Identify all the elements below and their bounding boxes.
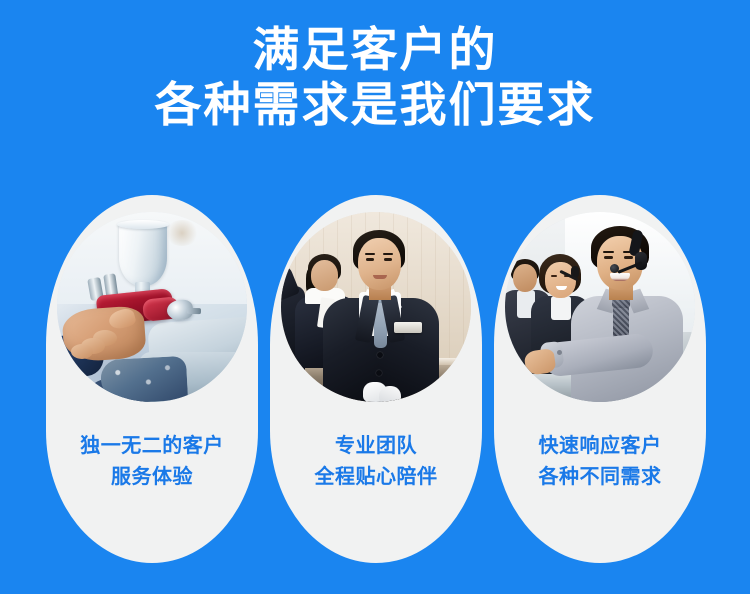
spray-paint-gun-photo [57,212,247,402]
feature-card-caption: 快速响应客户 各种不同需求 [494,431,706,493]
service-team-photo [281,212,471,402]
feature-card-fast-response[interactable]: 快速响应客户 各种不同需求 [494,195,706,563]
caption-line-1: 独一无二的客户 [46,431,258,462]
feature-card-list: 独一无二的客户 服务体验 [46,195,706,563]
caption-line-1: 快速响应客户 [494,431,706,462]
call-center-photo [505,212,695,402]
caption-line-1: 专业团队 [270,431,482,462]
feature-card-professional-team[interactable]: 专业团队 全程贴心陪伴 [270,195,482,563]
feature-card-caption: 专业团队 全程贴心陪伴 [270,431,482,493]
caption-line-2: 服务体验 [46,462,258,493]
feature-card-caption: 独一无二的客户 服务体验 [46,431,258,493]
caption-line-2: 各种不同需求 [494,462,706,493]
feature-card-unique-service[interactable]: 独一无二的客户 服务体验 [46,195,258,563]
promo-banner: 满足客户的 各种需求是我们要求 [0,0,750,594]
headline-line-1: 满足客户的 [0,22,750,77]
caption-line-2: 全程贴心陪伴 [270,462,482,493]
headline-line-2: 各种需求是我们要求 [0,77,750,132]
page-title: 满足客户的 各种需求是我们要求 [0,22,750,133]
